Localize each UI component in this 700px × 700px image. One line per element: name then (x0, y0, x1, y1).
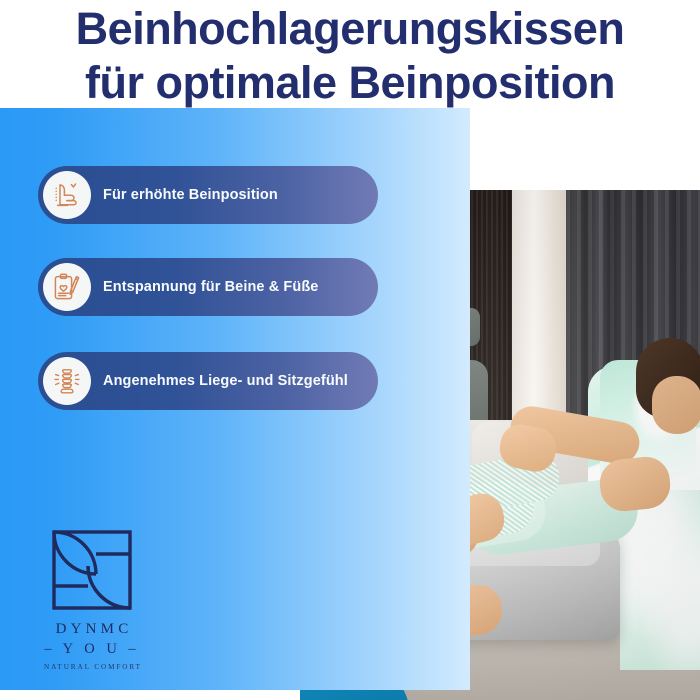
brand-name: DYNMC (32, 621, 152, 638)
reclining-legs-elevated-icon (43, 171, 91, 219)
clipboard-heart-pen-icon (43, 263, 91, 311)
feature-pill-comfort[interactable]: Angenehmes Liege- und Sitzgefühl (38, 352, 378, 410)
feature-pill-label: Für erhöhte Beinposition (103, 187, 278, 203)
leaf-square-logo-mark (50, 528, 134, 612)
brand-sub: – Y O U – (32, 641, 152, 658)
brand-logo: DYNMC – Y O U – NATURAL COMFORT (32, 528, 152, 671)
feature-pill-relaxation[interactable]: Entspannung für Beine & Füße (38, 258, 378, 316)
brand-tagline: NATURAL COMFORT (32, 663, 152, 671)
photo-patient-face (652, 376, 700, 434)
feature-pill-label: Angenehmes Liege- und Sitzgefühl (103, 373, 348, 389)
spine-relief-icon (43, 357, 91, 405)
feature-pill-label: Entspannung für Beine & Füße (103, 279, 318, 295)
product-infographic: Beinhochlagerungskissen für optimale Bei… (0, 0, 700, 700)
page-title: Beinhochlagerungskissen für optimale Bei… (0, 0, 700, 110)
feature-pill-leg-position[interactable]: Für erhöhte Beinposition (38, 166, 378, 224)
headline-line-1: Beinhochlagerungskissen (0, 2, 700, 56)
headline-line-2: für optimale Beinposition (0, 56, 700, 110)
